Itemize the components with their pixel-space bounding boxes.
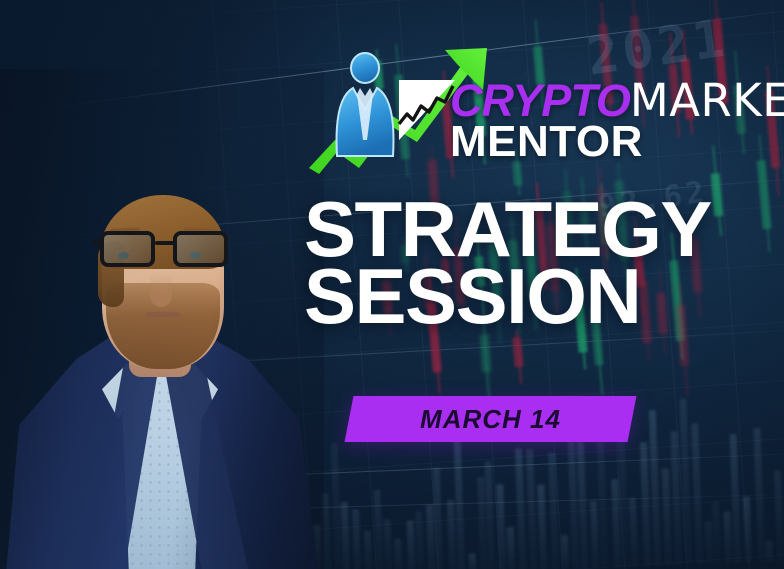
portrait-eyeglasses xyxy=(98,231,230,273)
brand-wordmark-row-1: CRYPTOMARKET xyxy=(450,80,780,121)
brand-wordmark: CRYPTOMARKET MENTOR xyxy=(450,80,780,167)
eyeglass-lens-right xyxy=(173,231,228,267)
date-badge-label: MARCH 14 xyxy=(349,396,632,442)
portrait-mouth xyxy=(146,312,180,317)
promo-banner: 2021 92.62 21. xyxy=(0,0,784,569)
date-badge: MARCH 14 xyxy=(345,396,637,442)
brand-logo: CRYPTOMARKET MENTOR xyxy=(305,44,770,174)
headline: STRATEGY SESSION xyxy=(304,196,774,330)
eyeglass-lens-left xyxy=(100,231,155,267)
brand-word-market: MARKET xyxy=(630,74,784,127)
eyeglass-temple-arm xyxy=(92,240,105,246)
headline-line-2: SESSION xyxy=(304,263,774,330)
eyeglass-bridge xyxy=(155,241,175,245)
portrait-nose xyxy=(150,273,172,307)
presenter-portrait xyxy=(0,69,324,569)
